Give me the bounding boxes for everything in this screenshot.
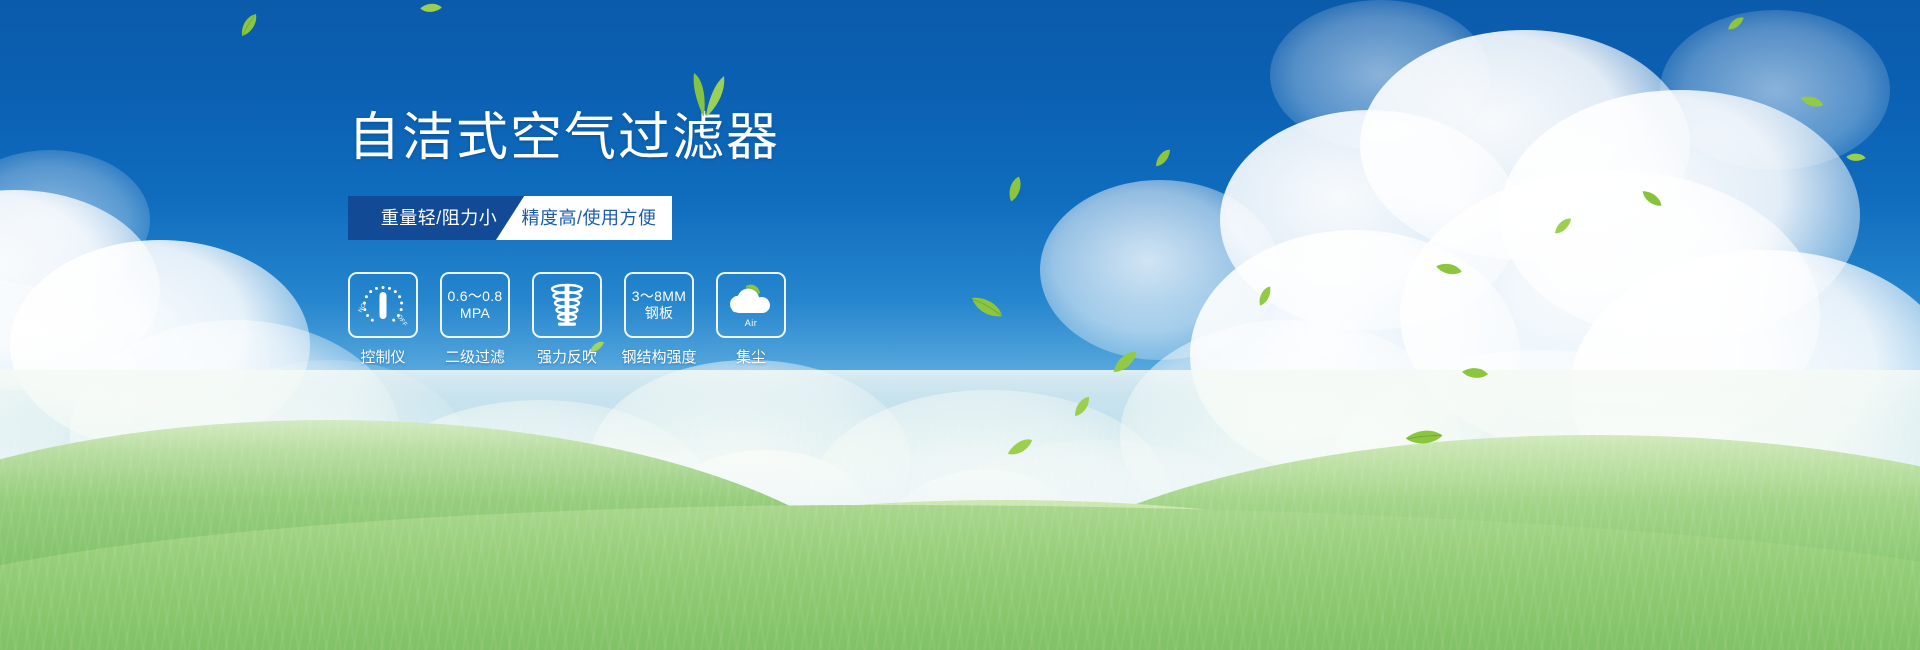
feature-caption: 钢结构强度 [622, 349, 697, 367]
floating-leaf-icon [419, 0, 444, 17]
feature-box: Air [716, 272, 786, 338]
steel-plate-text-icon: 3～8MM 钢板 [632, 288, 686, 322]
pressure-text-icon: 0.6～0.8 MPA [447, 288, 502, 322]
feature-caption: 二级过滤 [445, 349, 505, 367]
product-banner: 自洁式空气过滤器 重量轻/阻力小 精度高/使用方便 [0, 0, 1920, 650]
air-label: Air [718, 318, 784, 328]
feature-caption: 强力反吹 [537, 349, 597, 367]
feature-box [532, 272, 602, 338]
page-title: 自洁式空气过滤器 [348, 108, 968, 168]
cloud-bank-center [330, 330, 1230, 610]
feature-list: NO OFF 控制仪 0.6～0.8 MPA 二级过滤 [348, 272, 968, 367]
feature-caption: 集尘 [736, 349, 766, 367]
feature-item-two-stage-filter: 0.6～0.8 MPA 二级过滤 [440, 272, 510, 367]
tag-secondary-label: 精度高/使用方便 [510, 196, 668, 240]
feature-item-steel-strength: 3～8MM 钢板 钢结构强度 [624, 272, 694, 367]
green-sprout-icon [678, 70, 730, 121]
subtitle-tags: 重量轻/阻力小 精度高/使用方便 [348, 196, 672, 240]
title-row: 自洁式空气过滤器 [348, 108, 968, 174]
feature-item-back-blow: 强力反吹 [532, 272, 602, 367]
feature-box: NO OFF [348, 272, 418, 338]
tag-primary-label: 重量轻/阻力小 [358, 196, 520, 240]
floating-leaf-icon [1001, 175, 1028, 204]
feature-item-dust-collection: Air 集尘 [716, 272, 786, 367]
feature-box: 3～8MM 钢板 [624, 272, 694, 338]
floating-leaf-icon [970, 288, 1004, 326]
coil-spring-icon [545, 282, 589, 328]
floating-leaf-icon [234, 12, 263, 38]
air-cloud-icon [726, 283, 776, 319]
banner-content: 自洁式空气过滤器 重量轻/阻力小 精度高/使用方便 [348, 108, 968, 367]
feature-caption: 控制仪 [360, 349, 405, 367]
feature-item-control-dial: NO OFF 控制仪 [348, 272, 418, 367]
feature-box: 0.6～0.8 MPA [440, 272, 510, 338]
